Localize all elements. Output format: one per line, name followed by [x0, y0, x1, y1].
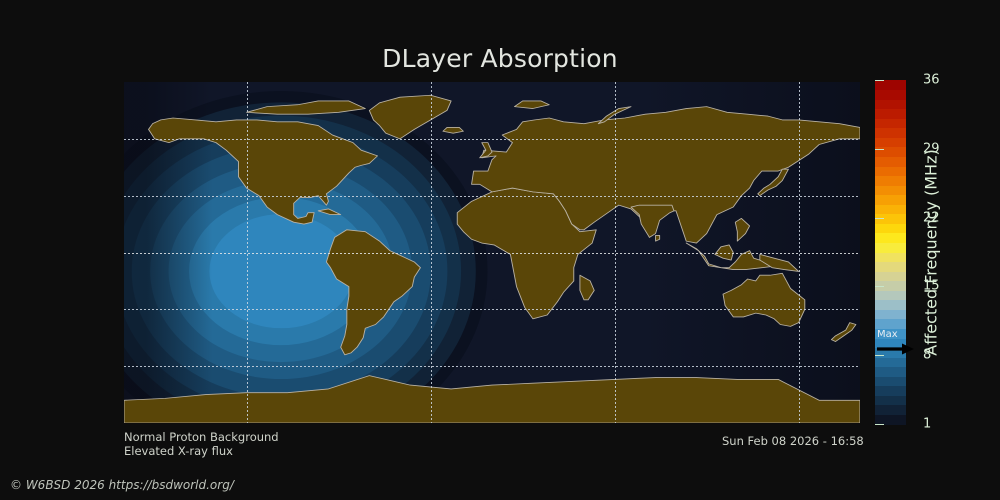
colorbar-segment: [875, 137, 906, 147]
colorbar-tick: [875, 80, 884, 81]
colorbar-segment: [875, 118, 906, 128]
colorbar-tick: [875, 218, 884, 219]
colorbar-segment: [875, 262, 906, 272]
colorbar-segment: [875, 376, 906, 386]
gridline-longitude: [615, 82, 616, 423]
max-marker-label: Max: [877, 330, 898, 340]
page-title: DLayer Absorption: [0, 44, 1000, 73]
colorbar-segment: [875, 109, 906, 119]
colorbar-axis-label-text: Affected Frequency (MHz): [922, 149, 941, 355]
colorbar-segment: [875, 195, 906, 205]
colorbar-segment: [875, 290, 906, 300]
colorbar-segment: [875, 300, 906, 310]
credit-line: © W6BSD 2026 https://bsdworld.org/: [10, 478, 234, 492]
note-proton-background: Normal Proton Background: [124, 430, 279, 444]
colorbar-segment: [875, 395, 906, 405]
colorbar-segment: [875, 319, 906, 329]
colorbar-tick: [875, 149, 884, 150]
colorbar-segment: [875, 156, 906, 166]
colorbar-segment: [875, 166, 906, 176]
colorbar-tick: [875, 424, 884, 425]
map-plot[interactable]: [124, 82, 860, 423]
colorbar-segment: [875, 242, 906, 252]
colorbar-segment: [875, 128, 906, 138]
colorbar-segment: [875, 185, 906, 195]
colorbar-segment: [875, 386, 906, 396]
colorbar-segment: [875, 99, 906, 109]
colorbar-segment: [875, 405, 906, 415]
gridline-latitude: [124, 309, 860, 310]
gridline-latitude: [124, 253, 860, 254]
colorbar-segment: [875, 214, 906, 224]
colorbar-segment: [875, 90, 906, 100]
gridline-latitude: [124, 366, 860, 367]
gridline-latitude: [124, 139, 860, 140]
colorbar-segment: [875, 357, 906, 367]
note-xray-flux: Elevated X-ray flux: [124, 444, 233, 458]
gridline-longitude: [799, 82, 800, 423]
colorbar-segment: [875, 176, 906, 186]
colorbar-segment: [875, 204, 906, 214]
max-marker: Max: [876, 330, 916, 356]
colorbar-segment: [875, 252, 906, 262]
gridline-longitude: [431, 82, 432, 423]
colorbar-segment: [875, 80, 906, 90]
colorbar-segment: [875, 309, 906, 319]
colorbar-segment: [875, 367, 906, 377]
colorbar-tick: [875, 286, 884, 287]
timestamp: Sun Feb 08 2026 - 16:58: [722, 434, 864, 448]
graticule: [124, 82, 860, 423]
app-root: DLayer Absorption 3629221581 Affected Fr…: [0, 0, 1000, 500]
colorbar[interactable]: [875, 80, 906, 424]
gridline-longitude: [247, 82, 248, 423]
colorbar-segment: [875, 271, 906, 281]
colorbar-segment: [875, 223, 906, 233]
max-arrow-icon: [876, 342, 916, 356]
gridline-latitude: [124, 196, 860, 197]
colorbar-axis-label: Affected Frequency (MHz): [917, 82, 945, 423]
colorbar-segment: [875, 233, 906, 243]
